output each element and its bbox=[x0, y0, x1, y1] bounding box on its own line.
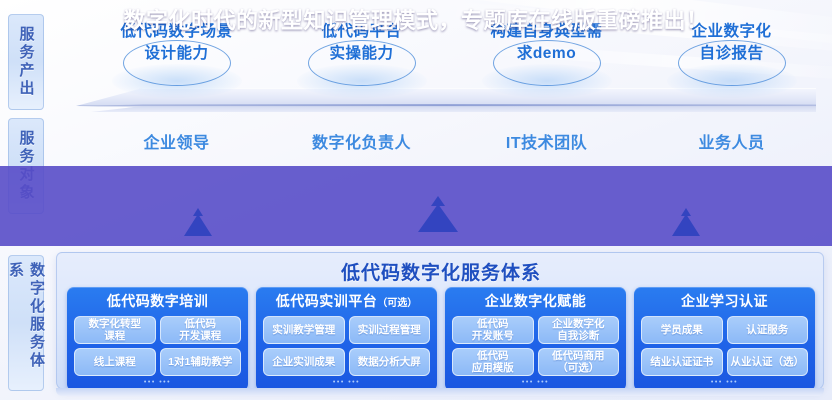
arrow-body bbox=[418, 204, 458, 232]
arrow-body bbox=[672, 214, 700, 236]
service-card[interactable]: 低代码数字培训 数字化转型 课程 低代码 开发课程 线上课程 1对1辅助教学 •… bbox=[67, 287, 248, 390]
sidebar-item-service-system: 数字化服务体系 bbox=[8, 255, 44, 391]
sidebar-item-label: 服务产出 bbox=[16, 26, 37, 98]
service-chip[interactable]: 企业数字化 自我诊断 bbox=[538, 316, 620, 344]
service-system-panel: 低代码数字化服务体系 低代码数字培训 数字化转型 课程 低代码 开发课程 线上课… bbox=[56, 252, 824, 390]
headline-text: 数字化时代的新型知识管理模式，专题库在线版重磅推出！ bbox=[0, 0, 832, 36]
audience-item: 业务人员 bbox=[639, 129, 824, 153]
audience-item: 数字化负责人 bbox=[269, 129, 454, 153]
sidebar-item-label: 数字化服务体系 bbox=[5, 262, 47, 384]
service-card-title: 低代码数字培训 bbox=[74, 292, 241, 313]
more-dots-icon: ••• ••• bbox=[641, 378, 808, 387]
service-chip[interactable]: 低代码商用 （可选） bbox=[538, 348, 620, 376]
service-chip-list: 数字化转型 课程 低代码 开发课程 线上课程 1对1辅助教学 bbox=[74, 316, 241, 376]
service-audience-row: 企业领导 数字化负责人 IT技术团队 业务人员 bbox=[84, 118, 824, 164]
panel-base-shadow bbox=[56, 388, 824, 396]
service-chip[interactable]: 从业认证（选） bbox=[727, 348, 809, 376]
service-chip[interactable]: 1对1辅助教学 bbox=[160, 348, 242, 376]
service-card-title-main: 企业数字化赋能 bbox=[485, 293, 587, 309]
service-chip-list: 学员成果 认证服务 结业认证证书 从业认证（选） bbox=[641, 316, 808, 376]
output-line2: 自诊报告 bbox=[639, 44, 824, 64]
service-chip[interactable]: 企业实训成果 bbox=[263, 348, 345, 376]
panel-title: 低代码数字化服务体系 bbox=[57, 258, 824, 285]
up-arrow-icon bbox=[416, 196, 460, 244]
more-dots-icon: ••• ••• bbox=[74, 378, 241, 387]
service-chip[interactable]: 实训过程管理 bbox=[349, 316, 431, 344]
service-card[interactable]: 低代码实训平台（可选） 实训教学管理 实训过程管理 企业实训成果 数据分析大屏 … bbox=[256, 287, 437, 390]
service-chip-list: 低代码 开发账号 企业数字化 自我诊断 低代码 应用模版 低代码商用 （可选） bbox=[452, 316, 619, 376]
service-chip[interactable]: 低代码 开发账号 bbox=[452, 316, 534, 344]
infographic-slide: 服务产出 服务对象 数字化服务体系 低代码数字场景 设计能力 低代码平台 实操能… bbox=[0, 0, 832, 400]
platform-slab-face bbox=[76, 106, 816, 112]
audience-label: 企业领导 bbox=[143, 135, 209, 152]
service-chip[interactable]: 结业认证证书 bbox=[641, 348, 723, 376]
audience-label: 数字化负责人 bbox=[312, 135, 411, 152]
service-card-list: 低代码数字培训 数字化转型 课程 低代码 开发课程 线上课程 1对1辅助教学 •… bbox=[67, 287, 815, 390]
service-chip[interactable]: 低代码 应用模版 bbox=[452, 348, 534, 376]
service-card-title: 企业学习认证 bbox=[641, 292, 808, 313]
arrow-body bbox=[184, 214, 212, 236]
more-dots-icon: ••• ••• bbox=[263, 378, 430, 387]
service-chip[interactable]: 低代码 开发课程 bbox=[160, 316, 242, 344]
service-chip-list: 实训教学管理 实训过程管理 企业实训成果 数据分析大屏 bbox=[263, 316, 430, 376]
output-line2: 实操能力 bbox=[269, 44, 454, 64]
audience-item: 企业领导 bbox=[84, 129, 269, 153]
service-chip[interactable]: 学员成果 bbox=[641, 316, 723, 344]
service-chip[interactable]: 线上课程 bbox=[74, 348, 156, 376]
service-card-title-optional: （可选） bbox=[377, 298, 417, 309]
service-card-title-main: 低代码实训平台 bbox=[276, 293, 378, 309]
service-chip[interactable]: 认证服务 bbox=[727, 316, 809, 344]
up-arrow-icon bbox=[176, 208, 220, 242]
output-line2: 求demo bbox=[454, 44, 639, 64]
service-chip[interactable]: 数字化转型 课程 bbox=[74, 316, 156, 344]
service-chip[interactable]: 数据分析大屏 bbox=[349, 348, 431, 376]
service-card-title: 企业数字化赋能 bbox=[452, 292, 619, 313]
service-card-title: 低代码实训平台（可选） bbox=[263, 292, 430, 313]
service-card-title-main: 低代码数字培训 bbox=[107, 293, 209, 309]
service-card-title-main: 企业学习认证 bbox=[681, 293, 768, 309]
output-line2: 设计能力 bbox=[84, 44, 269, 64]
more-dots-icon: ••• ••• bbox=[452, 378, 619, 387]
service-chip[interactable]: 实训教学管理 bbox=[263, 316, 345, 344]
up-arrow-icon bbox=[664, 208, 708, 242]
audience-label: IT技术团队 bbox=[506, 135, 587, 152]
audience-label: 业务人员 bbox=[698, 135, 764, 152]
service-card[interactable]: 企业数字化赋能 低代码 开发账号 企业数字化 自我诊断 低代码 应用模版 低代码… bbox=[445, 287, 626, 390]
audience-item: IT技术团队 bbox=[454, 129, 639, 153]
service-card[interactable]: 企业学习认证 学员成果 认证服务 结业认证证书 从业认证（选） ••• ••• bbox=[634, 287, 815, 390]
